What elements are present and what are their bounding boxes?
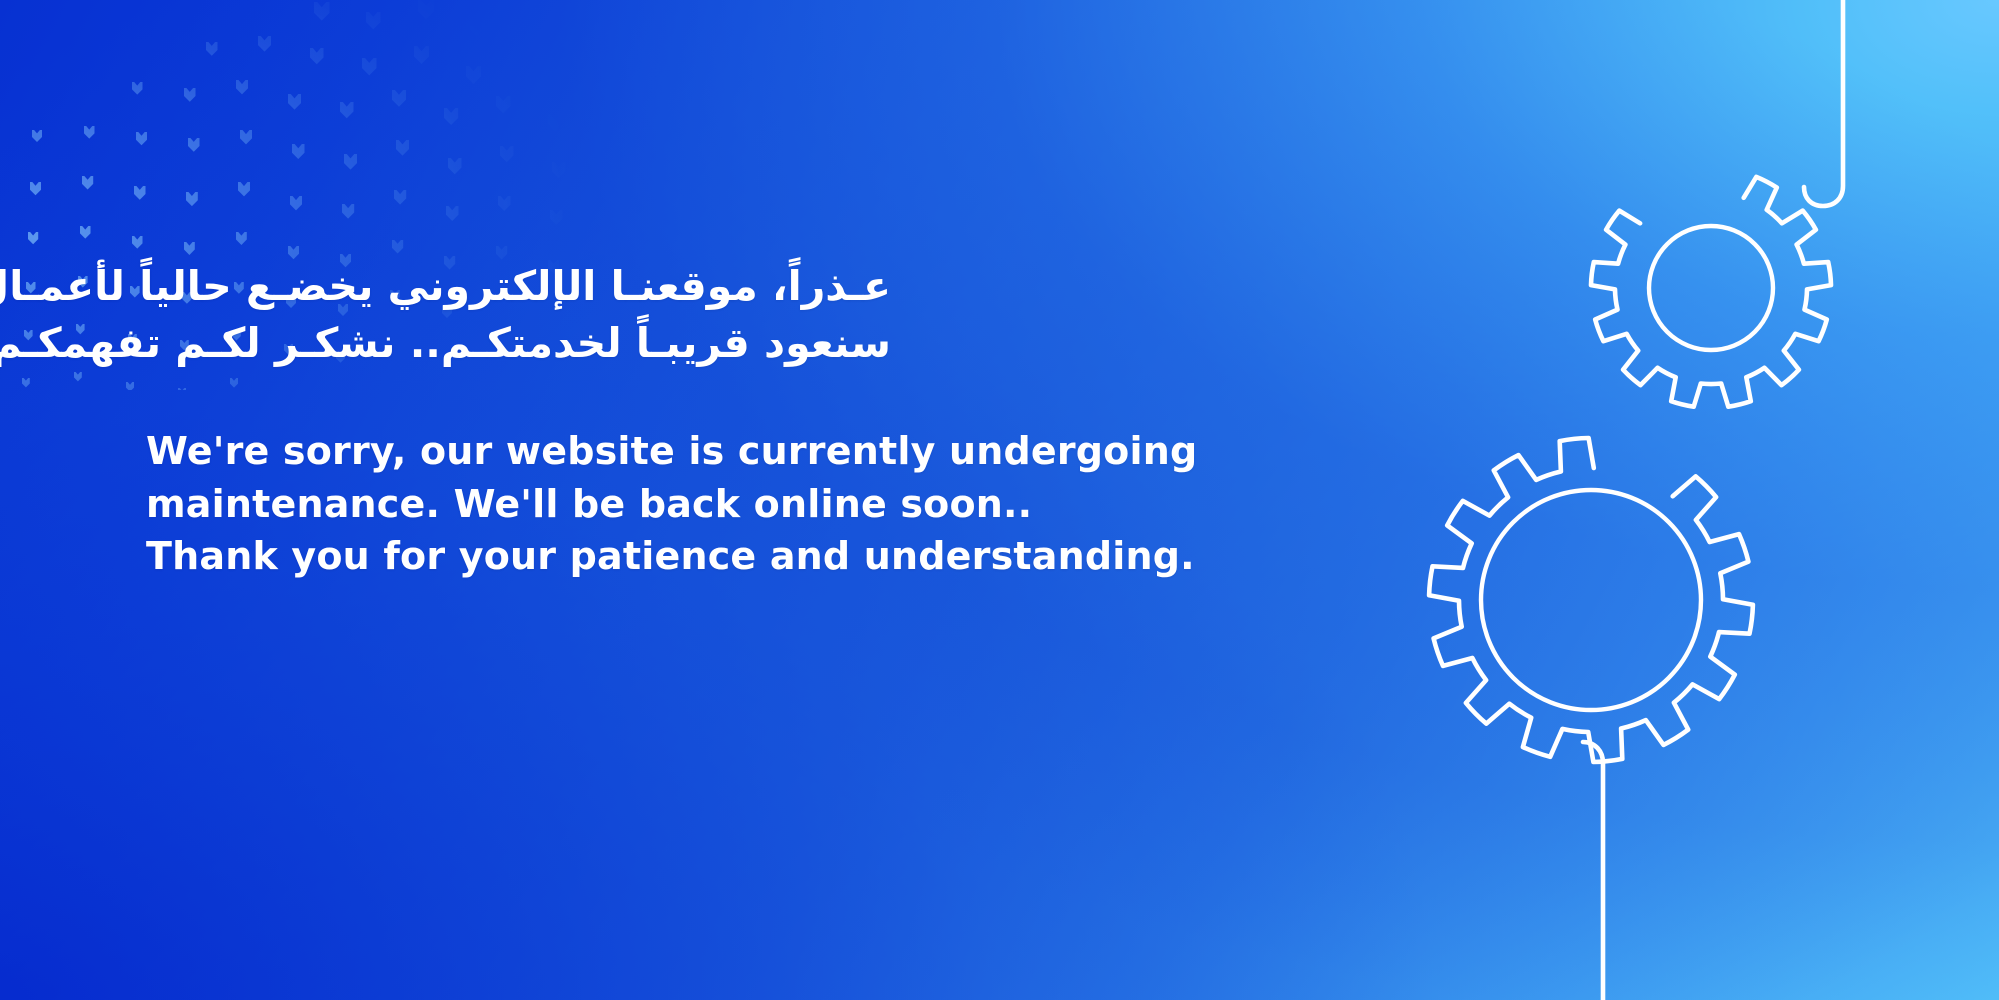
- english-line-2: maintenance. We'll be back online soon..: [146, 478, 1296, 530]
- english-message: We're sorry, our website is currently un…: [146, 425, 1296, 582]
- maintenance-page: عـذراً، موقعنـا الإلكتروني يخضـع حالياً …: [0, 0, 1999, 1000]
- arabic-line-1: عـذراً، موقعنـا الإلكتروني يخضـع حالياً …: [146, 258, 891, 315]
- arabic-message: عـذراً، موقعنـا الإلكتروني يخضـع حالياً …: [146, 258, 891, 371]
- english-line-1: We're sorry, our website is currently un…: [146, 425, 1296, 477]
- message-block: عـذراً، موقعنـا الإلكتروني يخضـع حالياً …: [146, 258, 1296, 582]
- english-line-3: Thank you for your patience and understa…: [146, 530, 1296, 582]
- arabic-line-2: سنعود قريبـاً لخدمتكـم.. نشكـر لكـم تفهم…: [146, 315, 891, 372]
